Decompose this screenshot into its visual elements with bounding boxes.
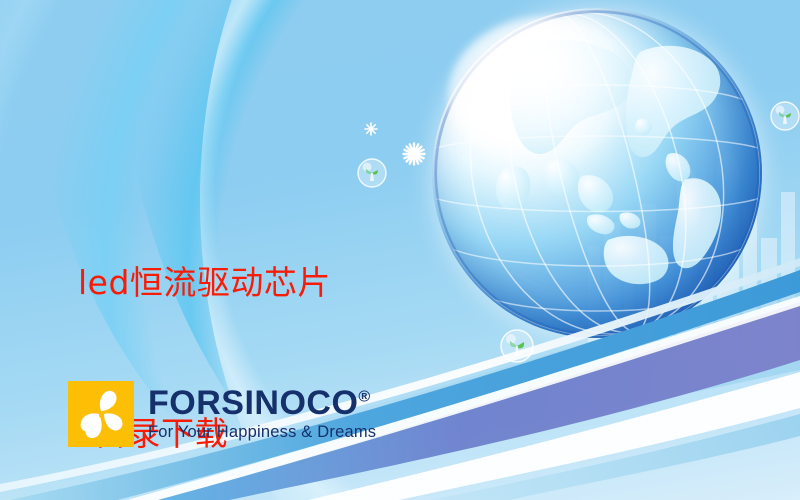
forsinoco-pinwheel-mark-icon [68,381,134,447]
globe-specular-highlight [448,16,648,176]
logo-wordmark: FORSINOCO® [148,386,376,421]
company-logo[interactable]: FORSINOCO® For Your Happiness & Dreams [68,381,376,447]
promo-banner: led恒流驱动芯片 目录下载 FORSINOCO® For Your Happi… [0,0,800,500]
logo-text-block: FORSINOCO® For Your Happiness & Dreams [148,386,376,443]
sparkle-small-upper-icon [364,122,378,136]
headline-line-1: led恒流驱动芯片 [78,258,418,308]
logo-tagline: For Your Happiness & Dreams [148,423,376,442]
headline: led恒流驱动芯片 目录下载 [78,158,418,500]
logo-wordmark-text: FORSINOCO [148,384,358,422]
registered-trademark-icon: ® [358,388,370,405]
bubble-pinwheel-right-icon [769,100,800,132]
